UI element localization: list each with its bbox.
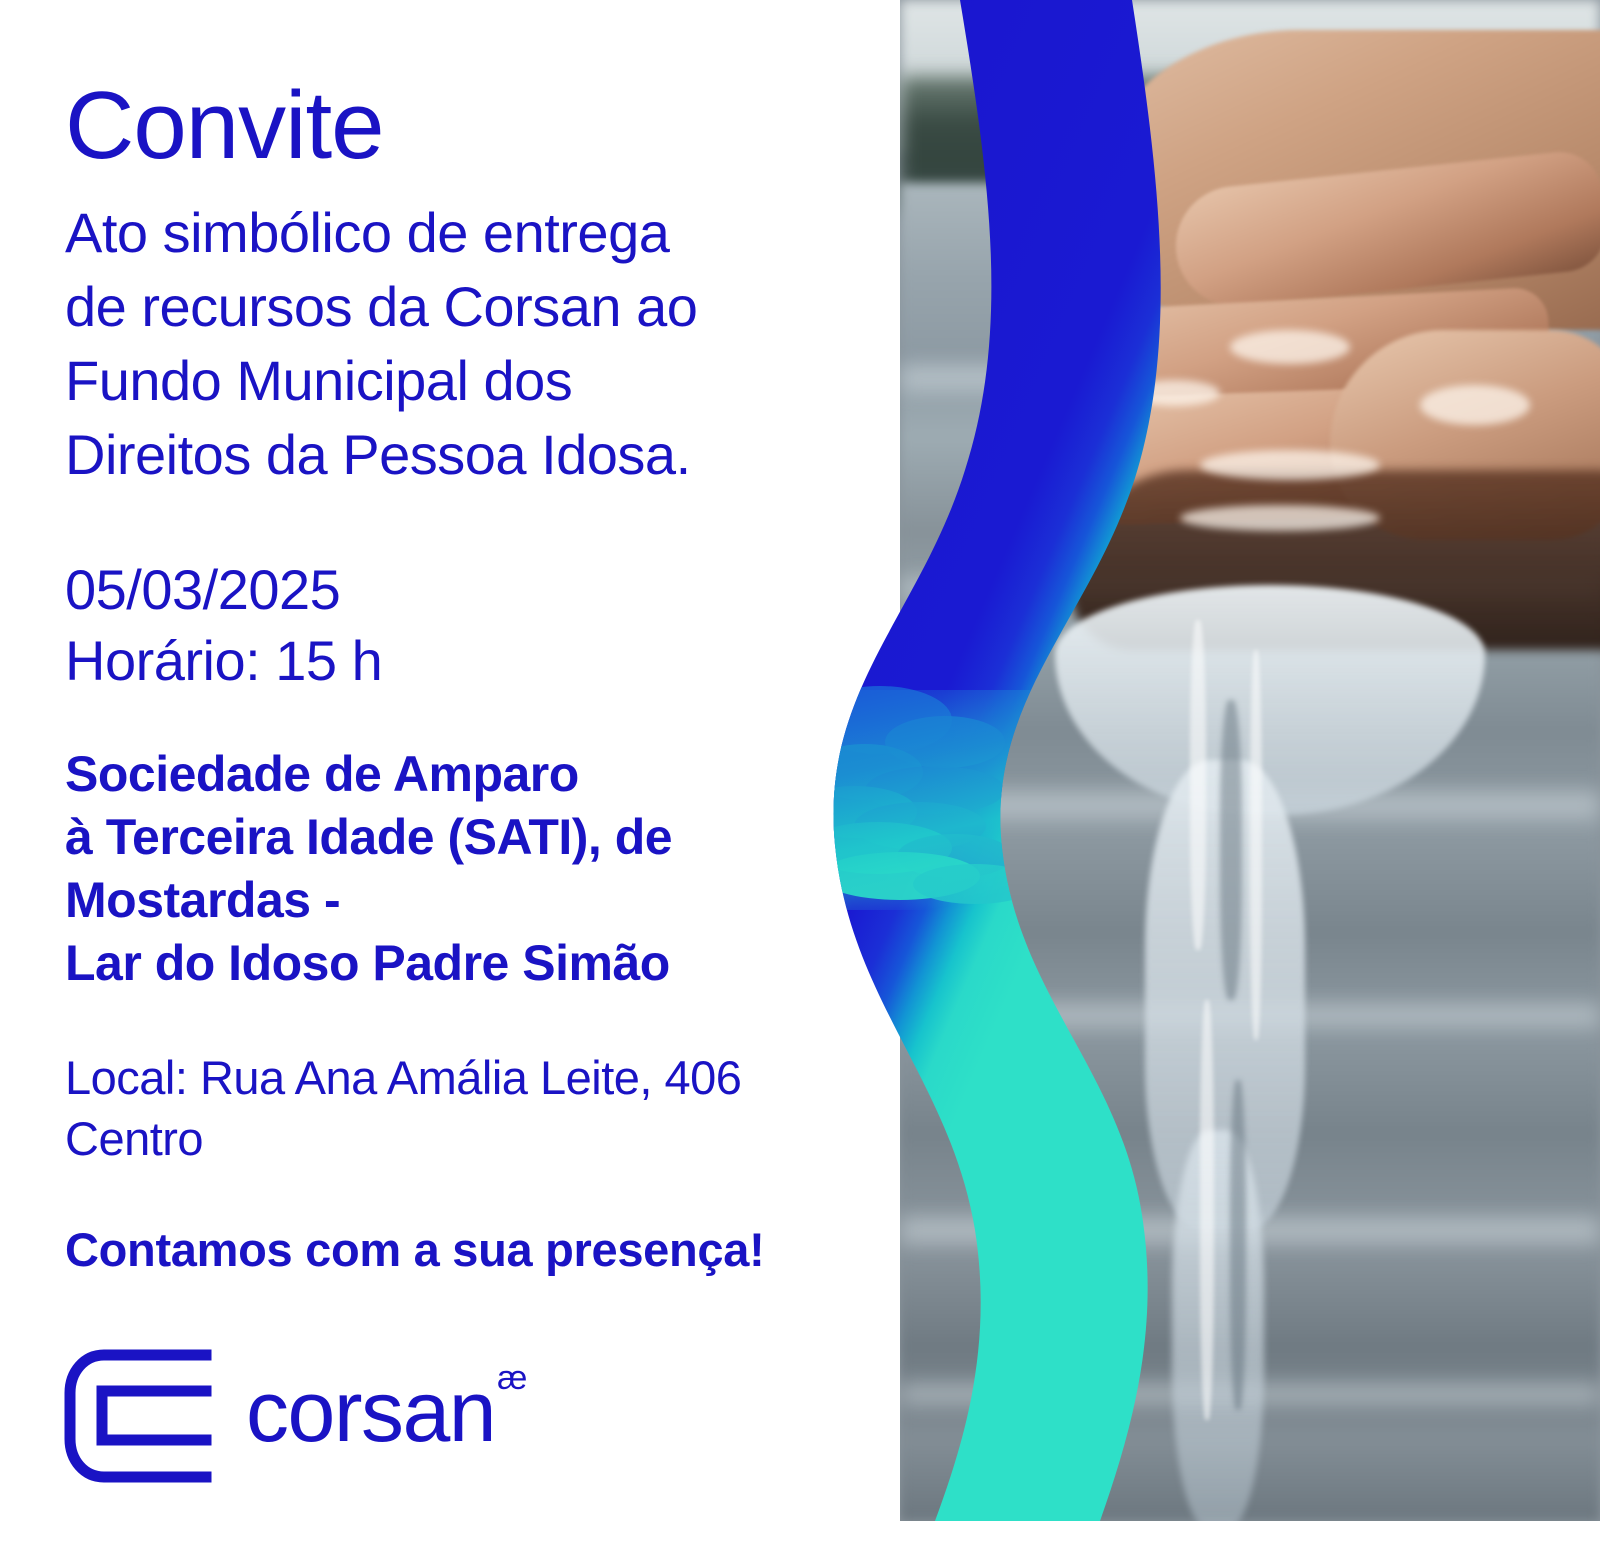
invitation-poster: Convite Ato simbólico de entrega de recu…	[0, 0, 1600, 1559]
event-cta: Contamos com a sua presença!	[65, 1221, 865, 1280]
corsan-wordmark: corsan	[246, 1369, 495, 1455]
text-column: Convite Ato simbólico de entrega de recu…	[65, 0, 865, 1280]
event-description: Ato simbólico de entrega de recursos da …	[65, 196, 865, 492]
event-venue: Sociedade de Amparo à Terceira Idade (SA…	[65, 743, 865, 995]
event-datetime: 05/03/2025 Horário: 15 h	[65, 554, 865, 697]
corsan-ae-superscript: æ	[497, 1361, 527, 1395]
corsan-bracket-icon	[60, 1345, 212, 1487]
water-shadow	[1230, 1080, 1246, 1410]
water-highlight	[1250, 650, 1262, 1040]
water-highlight	[1190, 620, 1206, 950]
skin-highlight	[1230, 330, 1350, 364]
corsan-logo: corsan æ	[60, 1345, 527, 1487]
page-title: Convite	[65, 0, 865, 174]
skin-highlight	[1420, 385, 1530, 425]
water-stream-tail	[1172, 1130, 1264, 1521]
skin-highlight	[1200, 450, 1380, 480]
hands-water-photo	[900, 0, 1600, 1521]
skin-highlight	[1180, 505, 1380, 531]
event-address: Local: Rua Ana Amália Leite, 406 Centro	[65, 1047, 865, 1169]
skin-highlight	[1130, 380, 1220, 406]
water-highlight	[1200, 1000, 1214, 1420]
water-shadow	[1220, 700, 1242, 1000]
